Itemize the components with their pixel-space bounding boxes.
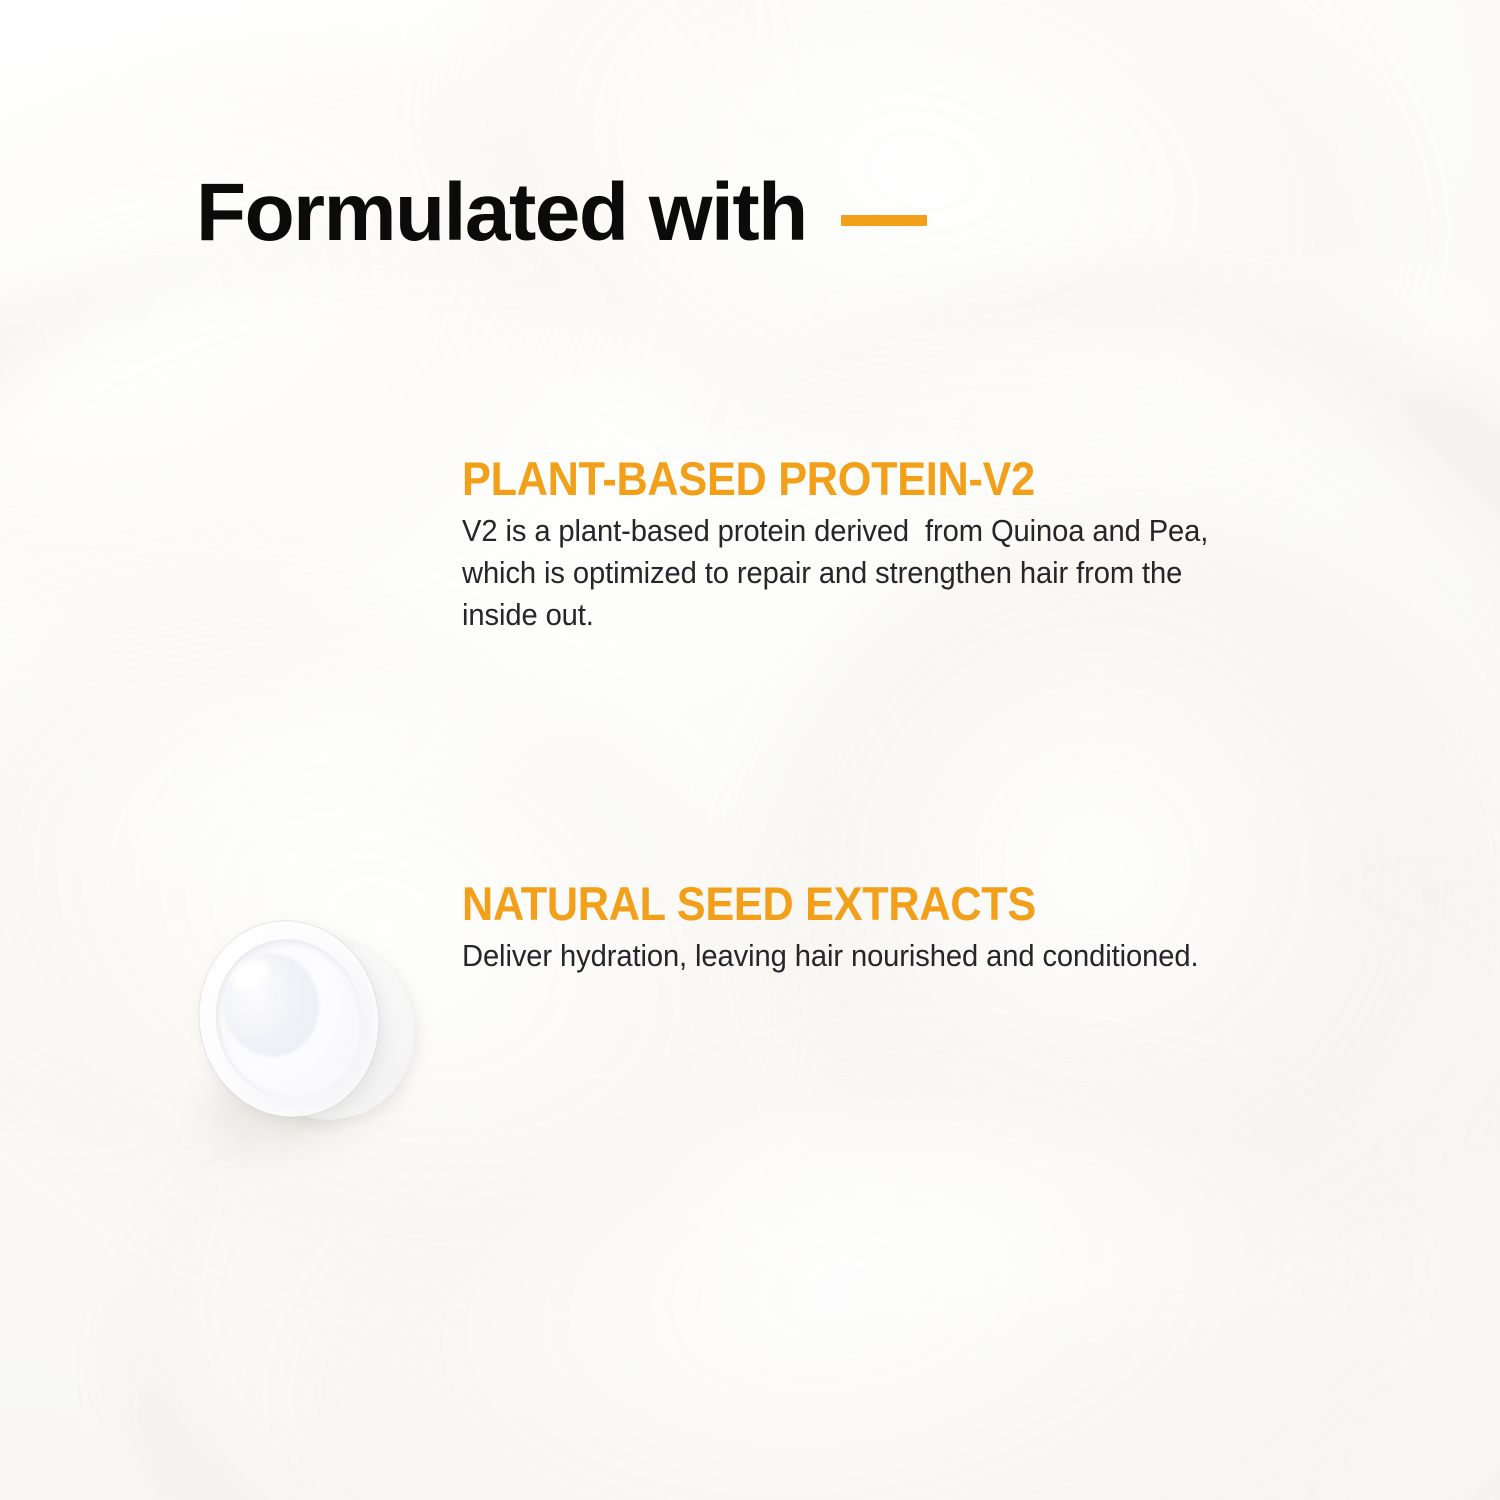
ingredient-title-natural-seed-extracts: NATURAL SEED EXTRACTS bbox=[462, 880, 1226, 929]
ingredient-row-plant-based-protein: PLANT-BASED PROTEIN-V2 V2 is a plant-bas… bbox=[0, 455, 1500, 715]
title-dash-accent bbox=[841, 215, 927, 226]
product-infographic: Formulated with PLANT-BASED PROTEIN-V2 V… bbox=[0, 0, 1500, 1500]
page-title: Formulated with bbox=[196, 172, 807, 254]
ingredient-text-plant-based-protein: PLANT-BASED PROTEIN-V2 V2 is a plant-bas… bbox=[462, 455, 1292, 636]
ingredient-body-natural-seed-extracts: Deliver hydration, leaving hair nourishe… bbox=[462, 935, 1242, 977]
headline-row: Formulated with bbox=[196, 172, 927, 254]
ingredient-row-natural-seed-extracts: NATURAL SEED EXTRACTS Deliver hydration,… bbox=[0, 880, 1500, 1120]
ingredient-title-plant-based-protein: PLANT-BASED PROTEIN-V2 bbox=[462, 455, 1226, 504]
ingredient-body-plant-based-protein: V2 is a plant-based protein derived from… bbox=[462, 510, 1242, 636]
ingredient-text-natural-seed-extracts: NATURAL SEED EXTRACTS Deliver hydration,… bbox=[462, 880, 1292, 977]
